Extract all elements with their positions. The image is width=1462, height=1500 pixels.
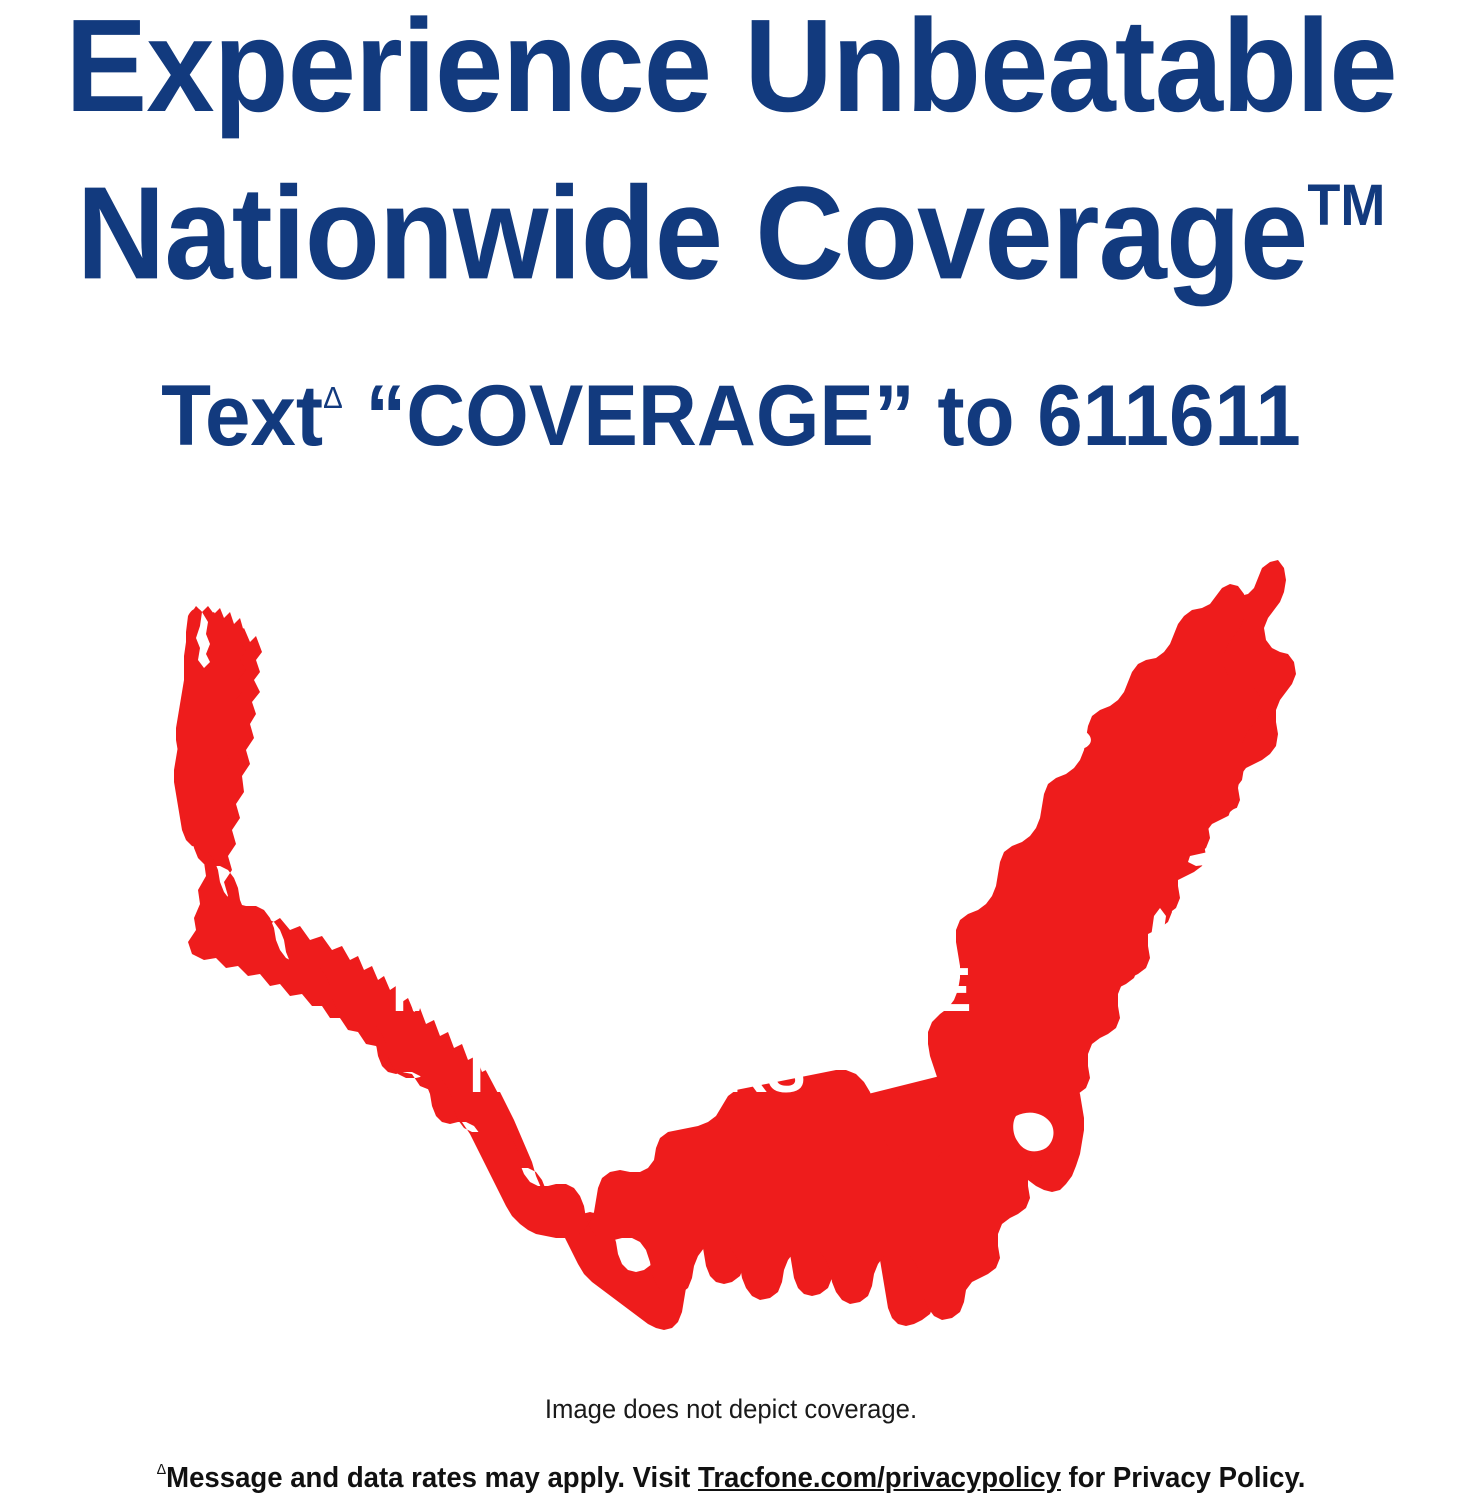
legal-footnote-after: for Privacy Policy. (1061, 1462, 1306, 1494)
headline-line-1: Experience Unbeatable (51, 0, 1411, 136)
michigan-strait-cutout (912, 660, 944, 680)
page-headline: Experience Unbeatable Nationwide Coverag… (51, 0, 1411, 303)
legal-footnote: ΔMessage and data rates may apply. Visit… (37, 1452, 1426, 1496)
image-disclaimer: Image does not depict coverage. (37, 1392, 1426, 1426)
sms-callout: TextΔ “COVERAGE” to 611611 (37, 352, 1426, 462)
legal-footnote-marker-delta-icon: Δ (157, 1461, 167, 1478)
privacy-policy-link[interactable]: Tracfone.com/privacypolicy (698, 1462, 1061, 1494)
sms-callout-prefix: Text (161, 368, 323, 464)
footnote-marker-delta-icon: Δ (323, 380, 343, 415)
map-overlay-line-1: AMERICA’S (234, 788, 1080, 869)
usa-map-graphic: AMERICA’S LARGEST AND MOST DEPENDABLE NE… (84, 556, 1334, 1346)
trademark-symbol: TM (1307, 173, 1385, 238)
lake-michigan-cutout (876, 674, 916, 805)
lake-ontario-cutout (1045, 726, 1091, 751)
headline-line-2: Nationwide CoverageTM (51, 136, 1411, 303)
map-overlay-line-4: NETWORKS (234, 1031, 1080, 1112)
legal-footnote-before: Message and data rates may apply. Visit (166, 1462, 698, 1494)
cape-cod-cutout (1229, 808, 1251, 833)
sms-callout-keyword: “COVERAGE” (365, 368, 914, 464)
map-overlay-line-3: MOST DEPENDABLE (234, 950, 1080, 1031)
map-overlay-text: AMERICA’S LARGEST AND MOST DEPENDABLE NE… (234, 788, 1080, 1112)
headline-line-2-text: Nationwide Coverage (77, 159, 1308, 306)
sms-callout-shortcode: to 611611 (937, 368, 1300, 464)
lake-erie-cutout (984, 750, 1040, 781)
map-overlay-line-2: LARGEST AND (234, 869, 1080, 950)
promo-banner: Experience Unbeatable Nationwide Coverag… (0, 0, 1462, 1500)
lake-huron-cutout (940, 663, 989, 749)
